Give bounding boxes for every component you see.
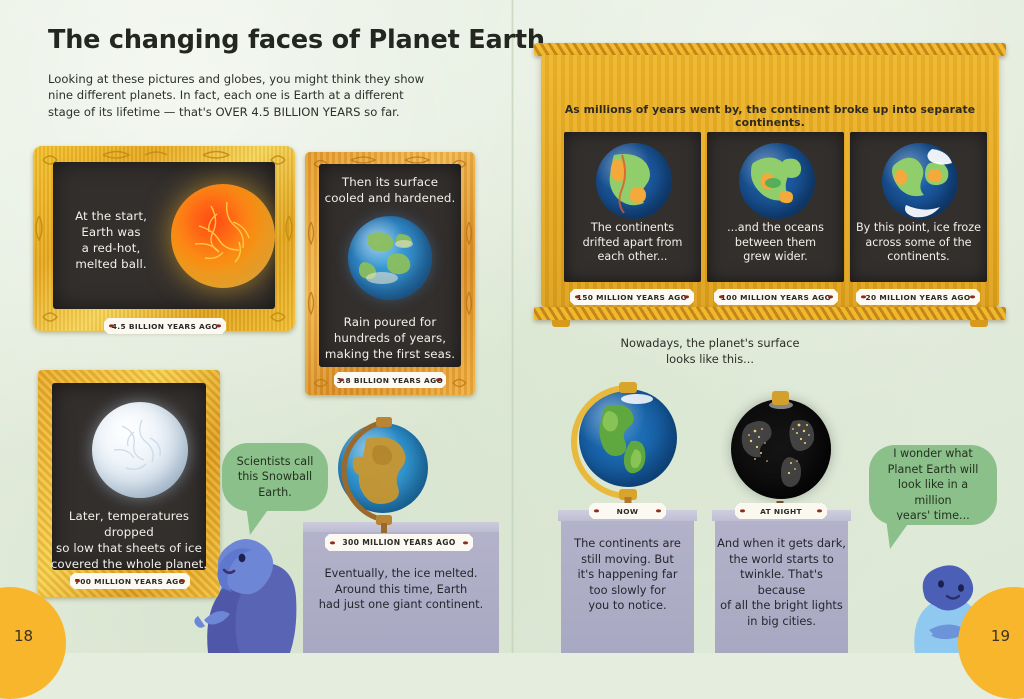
pedestal-top-surface: [303, 522, 499, 532]
caption-line: the world starts to: [715, 552, 848, 568]
caption-line: in big cities.: [715, 614, 848, 630]
panel-caption-top: Then its surface cooled and hardened.: [319, 174, 461, 206]
widening-oceans-globe: [739, 143, 815, 219]
plaque-300-million: 300 MILLION YEARS AGO: [325, 534, 473, 551]
intro-paragraph: Looking at these pictures and globes, yo…: [48, 71, 428, 120]
bubble-line: I wonder what: [879, 446, 987, 462]
drifting-continents-globe: [596, 143, 672, 219]
slot-caption-3: By this point, ice froze across some of …: [850, 221, 987, 265]
case-bottom-ledge: [534, 307, 1006, 320]
caption-line: each other...: [564, 250, 701, 265]
caption-line: Rain poured for: [315, 314, 465, 330]
caption-line: And when it gets dark,: [715, 536, 848, 552]
early-ocean-earth-globe: [348, 216, 432, 300]
caption-line: twinkle. That's because: [715, 567, 848, 598]
plaque-150-million: 150 MILLION YEARS AGO: [570, 289, 694, 305]
caption-line: had just one giant continent.: [303, 597, 499, 613]
caption-line: drifted apart from: [564, 236, 701, 251]
panel-caption: At the start, Earth was a red-hot, melte…: [61, 208, 161, 272]
speech-bubble-scientists: Scientists call this Snowball Earth.: [222, 443, 328, 511]
night-lights-globe: [731, 399, 831, 499]
caption-line: The continents are: [561, 536, 694, 552]
caption-line: you to notice.: [561, 598, 694, 614]
caption-line: melted ball.: [61, 256, 161, 272]
snowball-earth-globe: [92, 402, 188, 498]
caption-line: ...and the oceans: [707, 221, 844, 236]
nowadays-text: Nowadays, the planet's surface looks lik…: [570, 336, 850, 368]
speech-bubble-wonder: I wonder what Planet Earth will look lik…: [869, 445, 997, 525]
character-blue-gorilla: [178, 522, 300, 653]
caption-line: By this point, ice froze: [850, 221, 987, 236]
caption-line: across some of the: [850, 236, 987, 251]
bubble-line: Earth.: [237, 485, 314, 501]
caption-line: grew wider.: [707, 250, 844, 265]
speech-bubble-tail-right: [882, 519, 916, 551]
molten-earth-globe: [171, 184, 275, 288]
caption-line: At the start,: [61, 208, 161, 224]
caption-line: Then its surface: [319, 174, 461, 190]
case-foot-left: [552, 320, 570, 327]
book-spread: The changing faces of Planet Earth Looki…: [0, 0, 1024, 653]
case-heading: As millions of years went by, the contin…: [552, 103, 988, 129]
plaque-now: NOW: [589, 503, 666, 519]
caption-line: of all the bright lights: [715, 598, 848, 614]
caption-line: The continents: [564, 221, 701, 236]
caption-line: still moving. But: [561, 552, 694, 568]
plaque-3-8-billion: 3.8 BILLION YEARS AGO: [334, 372, 446, 388]
display-case: As millions of years went by, the contin…: [534, 43, 1006, 328]
caption-line: Around this time, Earth: [303, 582, 499, 598]
panel-caption-bottom: Rain poured for hundreds of years, makin…: [315, 314, 465, 362]
page-number-left-value: 18: [14, 627, 33, 645]
caption-line: between them: [707, 236, 844, 251]
pedestal-caption-pangaea: Eventually, the ice melted. Around this …: [303, 566, 499, 613]
pedestal-caption-night: And when it gets dark, the world starts …: [715, 536, 848, 630]
plaque-4-5-billion: 4.5 BILLION YEARS AGO: [104, 318, 226, 334]
case-foot-right: [970, 320, 988, 327]
page-number-right-value: 19: [991, 627, 1010, 645]
nowadays-line: Nowadays, the planet's surface: [570, 336, 850, 352]
caption-line: too slowly for: [561, 583, 694, 599]
icy-continents-globe: [882, 143, 958, 219]
caption-line: Eventually, the ice melted.: [303, 566, 499, 582]
slot-caption-2: ...and the oceans between them grew wide…: [707, 221, 844, 265]
caption-line: it's happening far: [561, 567, 694, 583]
panel-cooled-earth: Then its surface cooled and hardened. Ra…: [305, 152, 475, 395]
caption-line: continents.: [850, 250, 987, 265]
modern-earth-globe: [579, 389, 677, 487]
page-gutter: [511, 0, 514, 653]
panel-red-hot-earth: At the start, Earth was a red-hot, melte…: [33, 146, 295, 331]
caption-line: making the first seas.: [315, 346, 465, 362]
bubble-line: Planet Earth will: [879, 462, 987, 478]
pedestal-caption-now: The continents are still moving. But it'…: [561, 536, 694, 614]
plaque-700-million: 700 MILLION YEARS AGO: [70, 573, 190, 589]
bubble-line: look like in a million: [879, 477, 987, 508]
caption-line: a red-hot,: [61, 240, 161, 256]
pangaea-globe: [338, 423, 428, 513]
page-title: The changing faces of Planet Earth: [48, 25, 545, 55]
bubble-line: this Snowball: [237, 469, 314, 485]
nowadays-line: looks like this...: [570, 352, 850, 368]
slot-caption-1: The continents drifted apart from each o…: [564, 221, 701, 265]
plaque-at-night: AT NIGHT: [735, 503, 827, 519]
caption-line: cooled and hardened.: [319, 190, 461, 206]
caption-line: hundreds of years,: [315, 330, 465, 346]
caption-line: Earth was: [61, 224, 161, 240]
plaque-100-million: 100 MILLION YEARS AGO: [714, 289, 838, 305]
bubble-line: Scientists call: [237, 454, 314, 470]
plaque-20-million: 20 MILLION YEARS AGO: [856, 289, 980, 305]
